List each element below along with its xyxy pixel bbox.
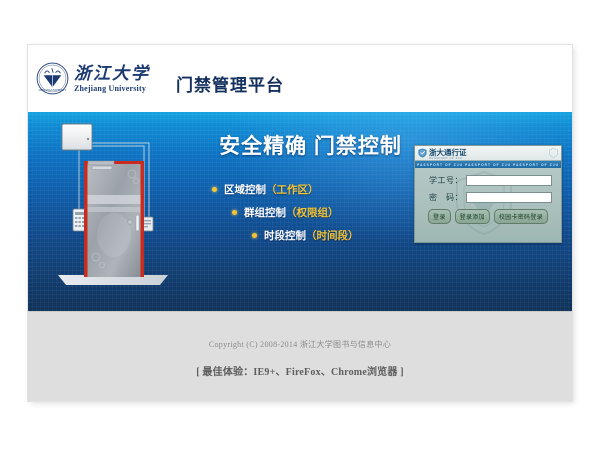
- hero-feature-note: （时间段）: [306, 228, 359, 243]
- hero-feature-item: 群组控制 （权限组）: [198, 205, 423, 220]
- login-panel-subtitle: PASSPORT OF ZJU: [429, 156, 462, 160]
- password-input[interactable]: [466, 192, 552, 203]
- hero-feature-note: （工作区）: [266, 182, 319, 197]
- logo-wordmark: 浙江大学 Zhejiang University: [74, 65, 150, 93]
- bullet-dot-icon: [232, 210, 237, 215]
- login-button-group: 登录 登录添加 校园卡密码登录: [421, 209, 555, 224]
- logo-chinese-name: 浙江大学: [74, 65, 150, 82]
- footer-browser-support: [ 最佳体验：IE9+、FireFox、Chrome浏览器 ]: [28, 363, 572, 378]
- university-logo[interactable]: ZHEJIANG UNIVERSITY 浙江大学 Zhejiang Univer…: [36, 62, 150, 95]
- login-panel-ribbon: PASSPORT OF ZJU PASSPORT OF ZJU PASSPORT…: [415, 161, 561, 168]
- footer-copyright: Copyright (C) 2008-2014 浙江大学图书与信息中心: [28, 339, 572, 350]
- login-button[interactable]: 登录: [428, 209, 451, 224]
- login-panel: 浙大通行证 PASSPORT OF ZJU PASSPORT OF ZJU PA…: [414, 145, 562, 243]
- hero-feature-item: 时段控制 （时间段）: [198, 228, 423, 243]
- hero-headline: 安全精确 门禁控制: [198, 130, 423, 160]
- login-field-row: 密 码：: [421, 192, 555, 203]
- logo-english-name: Zhejiang University: [74, 85, 150, 93]
- page-frame: ZHEJIANG UNIVERSITY 浙江大学 Zhejiang Univer…: [28, 45, 572, 401]
- access-control-door-illustration-icon: [44, 117, 184, 302]
- hero-feature-label: 时段控制: [264, 228, 306, 243]
- page-title: 门禁管理平台: [176, 71, 284, 96]
- bullet-dot-icon: [252, 233, 257, 238]
- login-panel-titlebar: 浙大通行证 PASSPORT OF ZJU: [415, 146, 561, 161]
- campus-card-password-login-button[interactable]: 校园卡密码登录: [494, 209, 548, 224]
- login-field-row: 学工号：: [421, 175, 555, 186]
- hero-feature-item: 区域控制 （工作区）: [198, 182, 423, 197]
- hero-feature-label: 群组控制: [244, 205, 286, 220]
- login-form: 学工号： 密 码： 登录 登录添加 校园卡密码登录: [415, 168, 561, 224]
- shield-icon: [418, 148, 427, 158]
- username-input[interactable]: [466, 175, 552, 186]
- hero-banner: 安全精确 门禁控制 区域控制 （工作区） 群组控制 （权限组） 时段控制 （时间…: [28, 112, 572, 311]
- zhejiang-university-seal-icon: ZHEJIANG UNIVERSITY: [36, 62, 69, 95]
- hero-feature-label: 区域控制: [224, 182, 266, 197]
- hero-feature-note: （权限组）: [286, 205, 339, 220]
- hero-copy: 安全精确 门禁控制 区域控制 （工作区） 群组控制 （权限组） 时段控制 （时间…: [198, 130, 423, 259]
- site-header: ZHEJIANG UNIVERSITY 浙江大学 Zhejiang Univer…: [28, 45, 572, 112]
- username-label: 学工号：: [421, 175, 466, 186]
- password-label: 密 码：: [421, 192, 466, 203]
- site-footer: Copyright (C) 2008-2014 浙江大学图书与信息中心 [ 最佳…: [28, 311, 572, 401]
- svg-text:ZHEJIANG UNIVERSITY: ZHEJIANG UNIVERSITY: [39, 89, 67, 92]
- shield-watermark-icon: [549, 148, 558, 158]
- bullet-dot-icon: [212, 187, 217, 192]
- login-add-button[interactable]: 登录添加: [455, 209, 490, 224]
- hero-feature-list: 区域控制 （工作区） 群组控制 （权限组） 时段控制 （时间段）: [198, 182, 423, 243]
